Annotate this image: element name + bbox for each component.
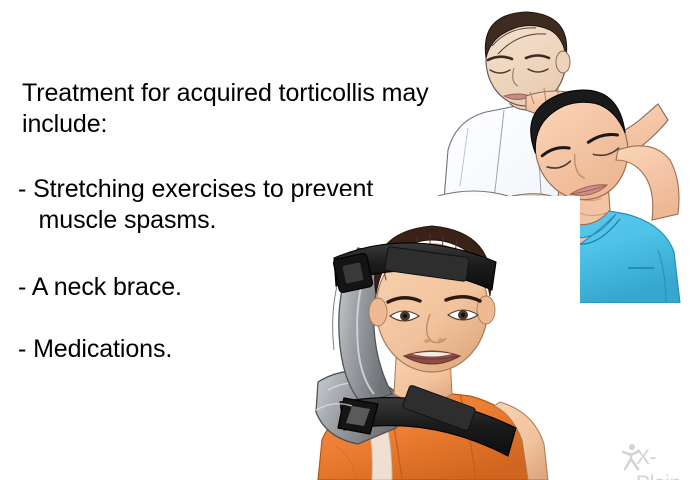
neck-brace-forehead-buckle — [333, 253, 373, 293]
boy-ear-left — [369, 298, 387, 326]
slide-canvas: Treatment for acquired torticollis may i… — [0, 0, 700, 480]
illustration-boy-wearing-cervical-neck-brace — [300, 196, 580, 480]
logo-text: X-Plain — [636, 445, 694, 480]
x-plain-logo: X-Plain — [620, 443, 694, 473]
page-title: Treatment for acquired torticollis may i… — [22, 78, 437, 140]
